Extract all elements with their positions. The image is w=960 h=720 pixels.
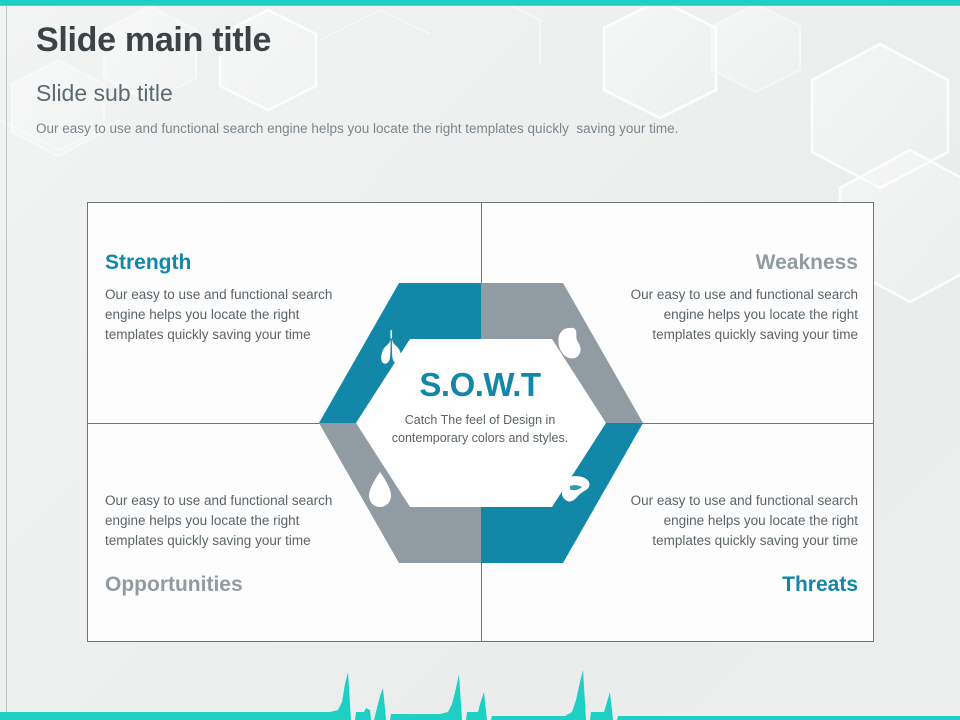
left-edge-rule — [6, 6, 7, 720]
lead-paragraph: Our easy to use and functional search en… — [36, 120, 916, 138]
sowt-caption: Catch The feel of Design in contemporary… — [390, 412, 570, 448]
quadrant-weakness-body: Our easy to use and functional search en… — [608, 285, 858, 345]
quadrant-threats-body: Our easy to use and functional search en… — [608, 491, 858, 551]
quadrant-strength-heading: Strength — [105, 251, 355, 275]
quadrant-weakness-heading: Weakness — [608, 251, 858, 275]
hexagon-center-text: S.O.W.T Catch The feel of Design in cont… — [390, 368, 570, 448]
page-subtitle: Slide sub title — [36, 81, 916, 106]
ecg-waveform — [0, 650, 960, 720]
slide-canvas: Slide main title Slide sub title Our eas… — [0, 0, 960, 720]
slide-header: Slide main title Slide sub title Our eas… — [36, 22, 916, 137]
top-hairline — [0, 5, 960, 6]
quadrant-opportunities-heading: Opportunities — [105, 573, 355, 597]
page-title: Slide main title — [36, 22, 916, 59]
sowt-title: S.O.W.T — [390, 368, 570, 401]
quadrant-threats-heading: Threats — [608, 573, 858, 597]
